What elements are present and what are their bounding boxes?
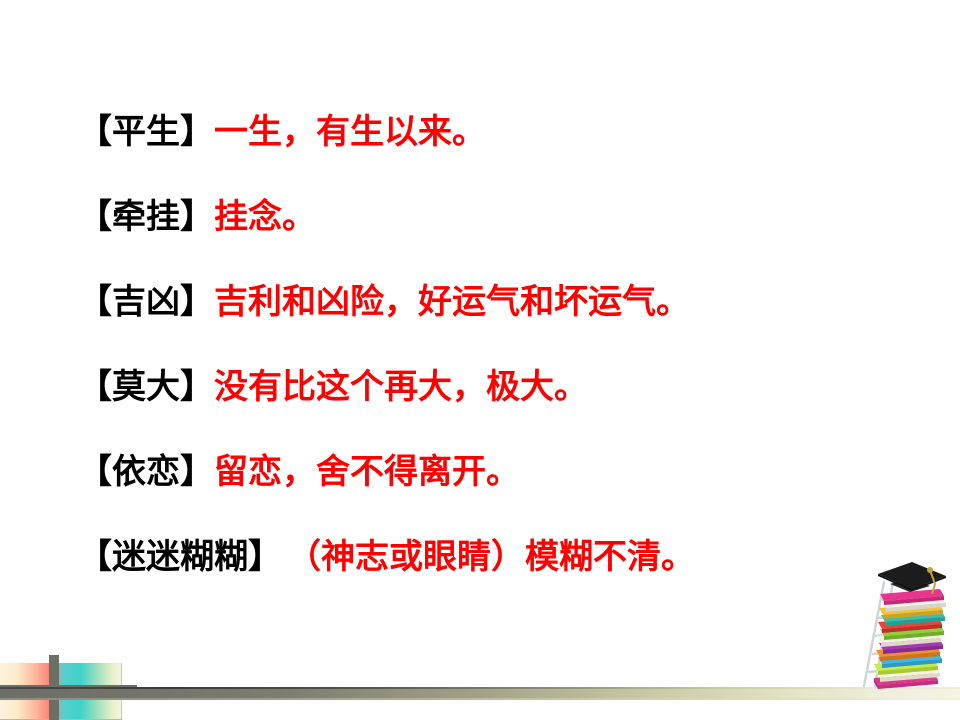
entry-term: 【牵挂】 bbox=[78, 197, 214, 237]
entry-definition: 吉利和凶险，好运气和坏运气。 bbox=[214, 282, 690, 322]
book-stack bbox=[874, 589, 946, 689]
entry-definition: 一生，有生以来。 bbox=[214, 112, 486, 152]
list-item: 【依恋】留恋，舍不得离开。 bbox=[78, 450, 918, 535]
footer-rule-bottom-edge bbox=[0, 698, 960, 700]
footer-rule bbox=[0, 687, 960, 700]
entry-term: 【依恋】 bbox=[78, 452, 214, 492]
entry-definition: 挂念。 bbox=[214, 197, 316, 237]
footer-rule-body bbox=[0, 689, 960, 698]
entry-definition: （神志或眼睛）模糊不清。 bbox=[304, 537, 695, 577]
entry-term: 【莫大】 bbox=[78, 367, 214, 407]
graduation-cap-icon bbox=[878, 562, 946, 594]
entry-definition: 没有比这个再大，极大。 bbox=[214, 367, 588, 407]
vocabulary-list: 【平生】一生，有生以来。 【牵挂】挂念。 【吉凶】吉利和凶险，好运气和坏运气。 … bbox=[78, 110, 918, 620]
entry-term: 【平生】 bbox=[78, 112, 214, 152]
list-item: 【迷迷糊糊】（神志或眼睛）模糊不清。 bbox=[78, 535, 918, 620]
list-item: 【莫大】没有比这个再大，极大。 bbox=[78, 365, 918, 450]
slide-canvas: 【平生】一生，有生以来。 【牵挂】挂念。 【吉凶】吉利和凶险，好运气和坏运气。 … bbox=[0, 0, 960, 720]
entry-term: 【吉凶】 bbox=[78, 282, 214, 322]
stack-of-books-with-graduation-cap bbox=[838, 552, 956, 712]
list-item: 【牵挂】挂念。 bbox=[78, 195, 918, 280]
list-item: 【平生】一生，有生以来。 bbox=[78, 110, 918, 195]
entry-term: 【迷迷糊糊】 bbox=[78, 537, 282, 577]
entry-definition: 留恋，舍不得离开。 bbox=[214, 452, 520, 492]
list-item: 【吉凶】吉利和凶险，好运气和坏运气。 bbox=[78, 280, 918, 365]
